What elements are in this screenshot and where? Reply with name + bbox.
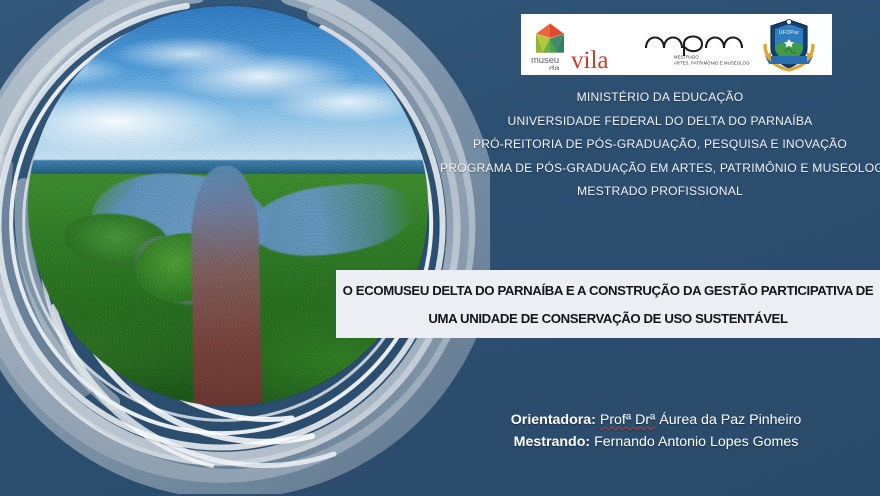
header-line-2: UNIVERSIDADE FEDERAL DO DELTA DO PARNAÍB…	[440, 110, 880, 134]
credits-block: Orientadora: Profª Drª Áurea da Paz Pinh…	[440, 409, 872, 453]
advisor-name: Áurea da Paz Pinheiro	[659, 412, 801, 428]
advisor-honorific: Profª Drª	[600, 412, 655, 428]
mapm-wordmark-icon: MESTRADO ARTES, PATRIMÔNIO E MUSEOLOGIA	[640, 22, 750, 68]
student-name: Fernando Antonio Lopes Gomes	[594, 434, 798, 450]
header-line-4: PROGRAMA DE PÓS-GRADUAÇÃO EM ARTES, PATR…	[440, 157, 880, 181]
delta-aerial-photo	[28, 6, 428, 406]
museu-da-vila-icon: museu da vila	[531, 20, 631, 70]
ufdpar-crest-logo: UFDPar	[757, 18, 821, 72]
photo-texture-overlay	[28, 6, 428, 406]
student-label: Mestrando:	[514, 434, 590, 450]
presentation-title-band: O ECOMUSEU DELTA DO PARNAÍBA E A CONSTRU…	[336, 270, 880, 338]
title-line-2: UMA UNIDADE DE CONSERVAÇÃO DE USO SUSTEN…	[428, 311, 787, 326]
svg-text:vila: vila	[571, 47, 609, 70]
title-line-1: O ECOMUSEU DELTA DO PARNAÍBA E A CONSTRU…	[343, 283, 874, 298]
svg-text:da: da	[549, 62, 560, 70]
museu-da-vila-logo: museu da vila	[529, 20, 633, 70]
svg-text:MESTRADO: MESTRADO	[674, 54, 699, 59]
header-line-5: MESTRADO PROFISSIONAL	[440, 180, 880, 204]
circular-photo-decoration	[0, 0, 490, 494]
mapm-logo: MESTRADO ARTES, PATRIMÔNIO E MUSEOLOGIA	[639, 22, 751, 68]
advisor-row: Orientadora: Profª Drª Áurea da Paz Pinh…	[440, 409, 872, 431]
svg-text:ARTES, PATRIMÔNIO E MUSEOLOGIA: ARTES, PATRIMÔNIO E MUSEOLOGIA	[674, 60, 750, 65]
advisor-label: Orientadora:	[511, 412, 596, 428]
student-row: Mestrando: Fernando Antonio Lopes Gomes	[440, 431, 872, 453]
svg-text:UFDPar: UFDPar	[779, 30, 800, 36]
ufdpar-crest-icon: UFDPar	[759, 18, 819, 72]
institution-header: MINISTÉRIO DA EDUCAÇÃO UNIVERSIDADE FEDE…	[440, 86, 880, 204]
header-line-1: MINISTÉRIO DA EDUCAÇÃO	[440, 86, 880, 110]
logo-banner: museu da vila MESTRADO ARTES, PATRIMÔNIO…	[521, 14, 832, 75]
presentation-slide: museu da vila MESTRADO ARTES, PATRIMÔNIO…	[0, 0, 880, 496]
header-line-3: PRÓ-REITORIA DE PÓS-GRADUAÇÃO, PESQUISA …	[440, 133, 880, 157]
